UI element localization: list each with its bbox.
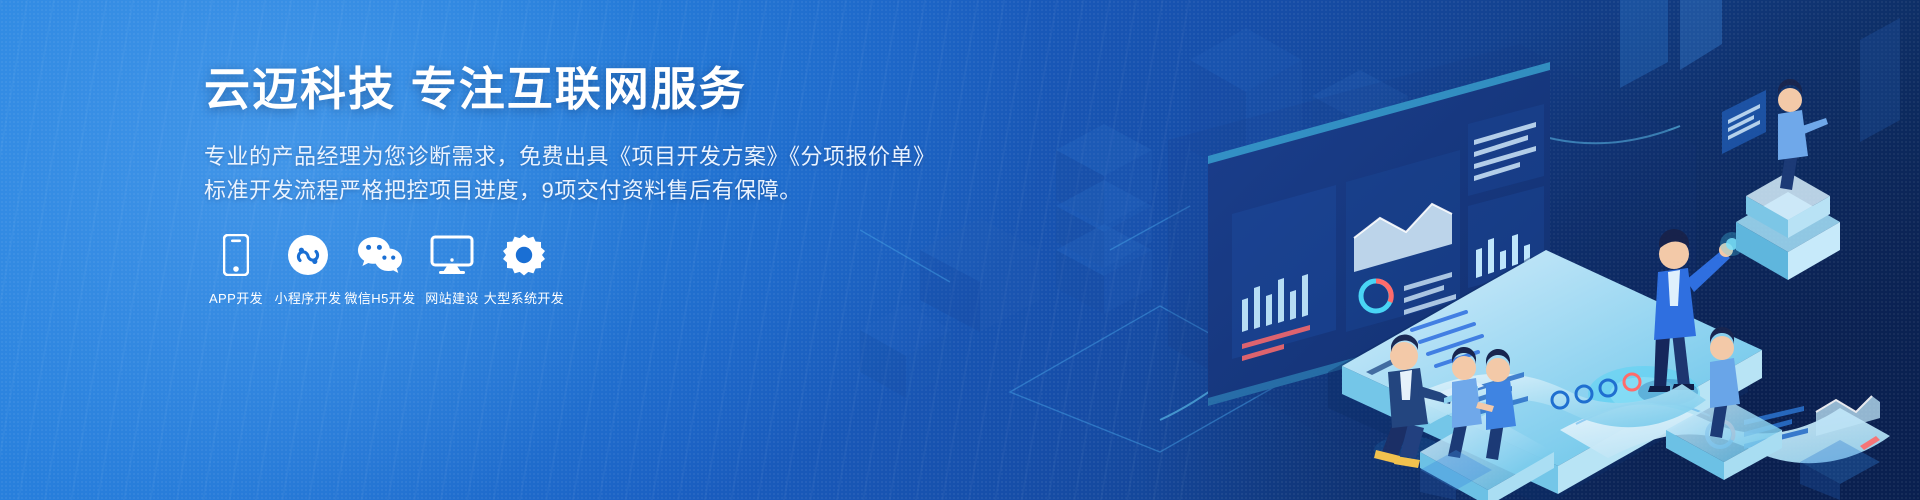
service-item-large-system[interactable]: 大型系统开发 (488, 232, 560, 305)
service-item-website[interactable]: 网站建设 (416, 232, 488, 305)
service-label-large-system: 大型系统开发 (484, 292, 564, 305)
hero-copy: 云迈科技 专注互联网服务 专业的产品经理为您诊断需求，免费出具《项目开发方案》《… (204, 62, 924, 208)
wechat-icon (357, 232, 403, 278)
gear-icon (503, 232, 545, 278)
hero-subtitle: 专业的产品经理为您诊断需求，免费出具《项目开发方案》《分项报价单》 标准开发流程… (204, 140, 924, 208)
mobile-phone-icon (223, 232, 249, 278)
hero-banner: 云迈科技 专注互联网服务 专业的产品经理为您诊断需求，免费出具《项目开发方案》《… (0, 0, 1920, 500)
service-label-wechat-h5: 微信H5开发 (344, 292, 415, 305)
service-label-mini-program: 小程序开发 (274, 292, 341, 305)
service-item-wechat-h5[interactable]: 微信H5开发 (344, 232, 416, 305)
mini-program-icon (287, 232, 329, 278)
service-label-app: APP开发 (209, 292, 263, 305)
monitor-icon (430, 232, 474, 278)
page-title: 云迈科技 专注互联网服务 (204, 62, 924, 116)
subtitle-line-2: 标准开发流程严格把控项目进度，9项交付资料售后有保障。 (204, 174, 924, 208)
hero-illustration (860, 0, 1920, 500)
service-icon-row: APP开发 小程序开发 (200, 232, 560, 305)
service-label-website: 网站建设 (425, 292, 479, 305)
subtitle-line-1: 专业的产品经理为您诊断需求，免费出具《项目开发方案》《分项报价单》 (204, 140, 924, 174)
service-item-app[interactable]: APP开发 (200, 232, 272, 305)
service-item-mini-program[interactable]: 小程序开发 (272, 232, 344, 305)
